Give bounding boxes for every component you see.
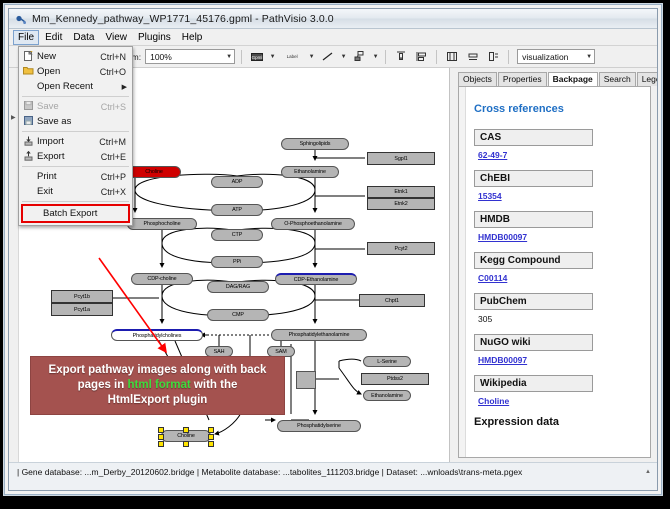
title-bar: Mm_Kennedy_pathway_WP1771_45176.gpml - P… xyxy=(9,9,657,29)
node-dag-rag[interactable]: DAG/RAG xyxy=(207,281,269,293)
callout-line-2a: pages in xyxy=(78,379,128,391)
new-document-icon xyxy=(19,51,37,63)
menu-item-save-accel: Ctrl+S xyxy=(101,102,132,112)
selection-handle[interactable] xyxy=(208,441,214,447)
selection-handle[interactable] xyxy=(183,427,189,433)
menu-item-open[interactable]: Open Ctrl+O xyxy=(19,64,132,79)
menu-file[interactable]: File xyxy=(13,30,39,45)
menu-view[interactable]: View xyxy=(100,30,132,45)
xref-value-kegg[interactable]: C00114 xyxy=(478,273,644,283)
menu-item-exit[interactable]: Exit Ctrl+X xyxy=(19,184,132,199)
node-ethanolamine-2[interactable]: Ethanolamine xyxy=(363,390,411,401)
xref-value-nugo[interactable]: HMDB00097 xyxy=(478,355,644,365)
selection-handle[interactable] xyxy=(183,441,189,447)
node-pcyt1a[interactable]: Pcyt1a xyxy=(51,303,113,316)
xref-db-chebi: ChEBI xyxy=(474,170,593,187)
chevron-down-icon[interactable]: ▼ xyxy=(372,54,379,60)
menu-item-exit-label: Exit xyxy=(37,186,101,197)
menu-item-open-accel: Ctrl+O xyxy=(100,67,132,77)
menu-separator xyxy=(22,166,129,167)
chevron-down-icon[interactable]: ▼ xyxy=(269,54,276,60)
node-l-serine[interactable]: L-Serine xyxy=(363,356,411,367)
chevron-up-icon[interactable]: ▲ xyxy=(645,469,657,475)
status-text: | Gene database: ...m_Derby_20120602.bri… xyxy=(17,467,522,477)
anchor-button[interactable] xyxy=(351,49,368,65)
chevron-down-icon: ▼ xyxy=(226,54,232,60)
menu-item-print-accel: Ctrl+P xyxy=(101,172,132,182)
align-left-button[interactable] xyxy=(413,49,430,65)
node-sphingolipids[interactable]: Sphingolipids xyxy=(281,138,349,150)
callout-line-2: pages in html format with the xyxy=(78,378,238,393)
node-sgpl1[interactable]: Sgpl1 xyxy=(367,152,435,165)
menu-plugins[interactable]: Plugins xyxy=(133,30,176,45)
xref-db-hmdb: HMDB xyxy=(474,211,593,228)
tab-legend[interactable]: Legend xyxy=(637,72,658,86)
menu-item-batch-export[interactable]: Batch Export xyxy=(21,204,130,223)
menu-item-new-label: New xyxy=(37,51,100,62)
xref-value-pubchem: 305 xyxy=(478,314,644,324)
screen-root: Mm_Kennedy_pathway_WP1771_45176.gpml - P… xyxy=(0,0,670,509)
menu-item-save-as[interactable]: Save as xyxy=(19,114,132,129)
panel-tab-strip: Objects Properties Backpage Search Legen… xyxy=(450,68,657,86)
export-icon xyxy=(19,151,37,163)
xref-db-cas: CAS xyxy=(474,129,593,146)
node-adp[interactable]: ADP xyxy=(211,176,263,188)
open-folder-icon xyxy=(19,66,37,77)
menu-separator xyxy=(22,96,129,97)
chevron-down-icon[interactable]: ▼ xyxy=(340,54,347,60)
chevron-down-icon[interactable]: ▼ xyxy=(308,54,315,60)
menu-item-export-accel: Ctrl+E xyxy=(101,152,132,162)
label-button[interactable]: Label xyxy=(280,49,304,65)
backpage-panel: Cross references CAS 62-49-7 ChEBI 15354… xyxy=(458,86,651,458)
tab-objects[interactable]: Objects xyxy=(458,72,497,86)
xref-value-hmdb[interactable]: HMDB00097 xyxy=(478,232,644,242)
menu-separator xyxy=(22,131,129,132)
save-disk-icon xyxy=(19,101,37,112)
submenu-arrow-icon: ▶ xyxy=(122,83,132,91)
menu-item-export-label: Export xyxy=(37,151,101,162)
backpage-content: Cross references CAS 62-49-7 ChEBI 15354… xyxy=(468,87,650,457)
menu-separator xyxy=(22,201,129,202)
node-phosphatidylethanolamine[interactable]: Phosphatidylethanolamine xyxy=(271,329,367,341)
node-choline[interactable]: Choline xyxy=(127,166,181,178)
menu-item-exit-accel: Ctrl+X xyxy=(101,187,132,197)
selection-handle[interactable] xyxy=(158,434,164,440)
pathvisio-icon xyxy=(15,13,27,25)
visualization-value: visualization xyxy=(522,52,568,62)
cross-references-title: Cross references xyxy=(474,103,644,115)
node-ptdss2[interactable]: Ptdss2 xyxy=(361,373,429,385)
xref-value-wikipedia[interactable]: Choline xyxy=(478,396,644,406)
save-as-icon xyxy=(19,116,37,127)
node-cdp-choline[interactable]: CDP-choline xyxy=(131,273,193,285)
callout-line-3: HtmlExport plugin xyxy=(108,393,208,408)
toolbar-separator xyxy=(436,50,437,64)
node-cmp[interactable]: CMP xyxy=(207,309,269,321)
pathvisio-window: Mm_Kennedy_pathway_WP1771_45176.gpml - P… xyxy=(8,8,658,491)
node-phosphatidylcholines[interactable]: Phosphatidylcholines xyxy=(111,329,203,341)
xref-db-nugo: NuGO wiki xyxy=(474,334,593,351)
node-ctp[interactable]: CTP xyxy=(211,229,263,241)
menu-data[interactable]: Data xyxy=(68,30,99,45)
svg-text:Gpml: Gpml xyxy=(251,55,262,60)
menu-item-print-label: Print xyxy=(37,171,101,182)
menu-item-save-label: Save xyxy=(37,101,101,112)
align-middle-button[interactable] xyxy=(464,49,481,65)
menu-item-new-accel: Ctrl+N xyxy=(100,52,132,62)
menu-item-import[interactable]: Import Ctrl+M xyxy=(19,134,132,149)
side-panel: Objects Properties Backpage Search Legen… xyxy=(450,68,657,462)
node-etnk1[interactable]: Etnk1 xyxy=(367,186,435,198)
node-phosphatidylserine[interactable]: Phosphatidylserine xyxy=(277,420,361,432)
zoom-value: 100% xyxy=(150,52,172,62)
menu-item-export[interactable]: Export Ctrl+E xyxy=(19,149,132,164)
window-title: Mm_Kennedy_pathway_WP1771_45176.gpml - P… xyxy=(32,13,334,25)
tab-backpage[interactable]: Backpage xyxy=(548,72,598,87)
toolbar-separator xyxy=(385,50,386,64)
node-atp[interactable]: ATP xyxy=(211,204,263,216)
menu-item-import-accel: Ctrl+M xyxy=(99,137,132,147)
menu-item-save: Save Ctrl+S xyxy=(19,99,132,114)
align-top-button[interactable] xyxy=(392,49,409,65)
anchor-shape[interactable] xyxy=(296,371,316,389)
selection-handle[interactable] xyxy=(208,427,214,433)
menu-item-open-recent-label: Open Recent xyxy=(37,81,122,92)
selection-handle[interactable] xyxy=(158,427,164,433)
menu-bar[interactable]: File Edit Data View Plugins Help xyxy=(9,29,657,46)
line-button[interactable] xyxy=(319,49,336,65)
menu-item-batch-export-label: Batch Export xyxy=(41,208,128,219)
status-bar: | Gene database: ...m_Derby_20120602.bri… xyxy=(9,462,657,481)
zoom-select[interactable]: 100% ▼ xyxy=(145,49,235,64)
xref-db-kegg: Kegg Compound xyxy=(474,252,593,269)
node-phosphocholine[interactable]: Phosphocholine xyxy=(127,218,197,230)
expression-data-title: Expression data xyxy=(474,416,644,428)
node-etnk2[interactable]: Etnk2 xyxy=(367,198,435,210)
visualization-select[interactable]: visualization ▼ xyxy=(517,49,595,64)
gene-product-button[interactable]: Gpml xyxy=(248,49,265,65)
tab-properties[interactable]: Properties xyxy=(498,72,547,86)
node-ethanolamine[interactable]: Ethanolamine xyxy=(281,166,339,178)
label-button-text: Label xyxy=(287,54,298,59)
node-o-phosphoethanolamine[interactable]: O-Phosphoethanolamine xyxy=(271,218,355,230)
file-menu-popup[interactable]: New Ctrl+N Open Ctrl+O Open Recent ▶ Sav… xyxy=(18,46,133,226)
xref-db-wikipedia: Wikipedia xyxy=(474,375,593,392)
menu-item-import-label: Import xyxy=(37,136,99,147)
node-pcyt1b[interactable]: Pcyt1b xyxy=(51,290,113,303)
callout-highlight: html format xyxy=(127,379,190,391)
import-icon xyxy=(19,136,37,148)
node-cdp-ethanolamine[interactable]: CDP-Ethanolamine xyxy=(275,273,357,285)
selection-handle[interactable] xyxy=(158,441,164,447)
menu-item-open-label: Open xyxy=(37,66,100,77)
callout-line-1: Export pathway images along with back xyxy=(49,363,267,378)
node-pcyt2[interactable]: Pcyt2 xyxy=(367,242,435,255)
selection-handle[interactable] xyxy=(208,434,214,440)
menu-item-new[interactable]: New Ctrl+N xyxy=(19,49,132,64)
tab-search[interactable]: Search xyxy=(599,72,636,86)
xref-value-cas[interactable]: 62-49-7 xyxy=(478,150,644,160)
xref-value-chebi[interactable]: 15354 xyxy=(478,191,644,201)
menu-edit[interactable]: Edit xyxy=(40,30,67,45)
align-center-button[interactable] xyxy=(443,49,460,65)
menu-help[interactable]: Help xyxy=(177,30,208,45)
node-chpt1[interactable]: Chpt1 xyxy=(359,294,425,307)
panel-scrollbar[interactable] xyxy=(459,87,466,457)
menu-item-open-recent[interactable]: Open Recent ▶ xyxy=(19,79,132,94)
menu-item-print[interactable]: Print Ctrl+P xyxy=(19,169,132,184)
annotation-callout: Export pathway images along with back pa… xyxy=(30,356,285,415)
node-ppi[interactable]: PPi xyxy=(211,256,263,268)
stack-button[interactable] xyxy=(485,49,502,65)
callout-line-2b: with the xyxy=(191,379,238,391)
toolbar-separator xyxy=(508,50,509,64)
menu-item-save-as-label: Save as xyxy=(37,116,126,127)
toolbar-separator xyxy=(241,50,242,64)
chevron-down-icon: ▼ xyxy=(586,54,592,60)
xref-db-pubchem: PubChem xyxy=(474,293,593,310)
